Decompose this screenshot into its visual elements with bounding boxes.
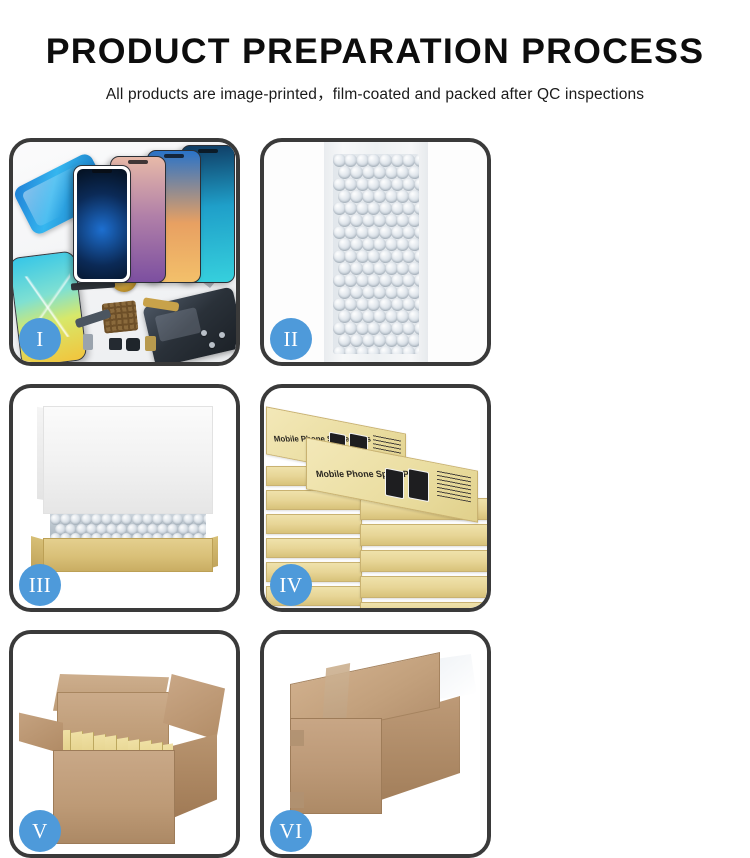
stacked-box-edge [360,602,487,608]
small-component-part-icon [145,336,156,351]
step-badge-1: I [19,318,61,360]
carton-front-icon [53,750,175,844]
process-step-panel-3: III [9,384,240,612]
step-badge-2: II [270,318,312,360]
process-step-panel-4: Mobile Phone Spare Parts Mobile Phone Sp… [260,384,491,612]
box-phone-graphic-icon [408,468,429,502]
step-badge-4: IV [270,564,312,606]
step-badge-5: V [19,810,61,852]
stacked-box-edge [266,538,362,558]
process-step-panel-1: I [9,138,240,366]
stacked-box-edge [266,514,362,534]
phone-fan-group [73,148,236,283]
screw-icon [219,332,225,338]
process-step-panel-5: V [9,630,240,858]
phone-screen-front-glass-icon [73,165,131,283]
process-step-panel-2: II [260,138,491,366]
step-badge-3: III [19,564,61,606]
page-subtitle: All products are image-printed，film-coat… [0,82,750,104]
page-title: PRODUCT PREPARATION PROCESS [0,34,750,71]
bubble-grid-icon [333,154,419,354]
tape-patch-icon [290,792,304,808]
bubble-icon [414,346,419,354]
small-component-part-icon [109,338,122,350]
box-phone-graphic-icon [385,468,404,500]
stacked-box-edge [360,550,487,572]
bubble-wrapped-contents-icon [50,514,206,540]
kraft-box-front-icon [43,538,213,572]
stacked-box-edge [360,524,487,546]
screw-icon [209,342,215,348]
step-badge-6: VI [270,810,312,852]
stacked-box-edge [360,576,487,598]
box-white-lid-icon [43,406,213,514]
small-component-part-icon [126,338,140,351]
header: PRODUCT PREPARATION PROCESS All products… [0,0,750,104]
screw-icon [201,330,207,336]
process-panel-grid: I II III [9,138,741,858]
process-step-panel-6: VI [260,630,491,858]
tape-patch-icon [290,730,304,746]
small-component-part-icon [83,334,93,350]
